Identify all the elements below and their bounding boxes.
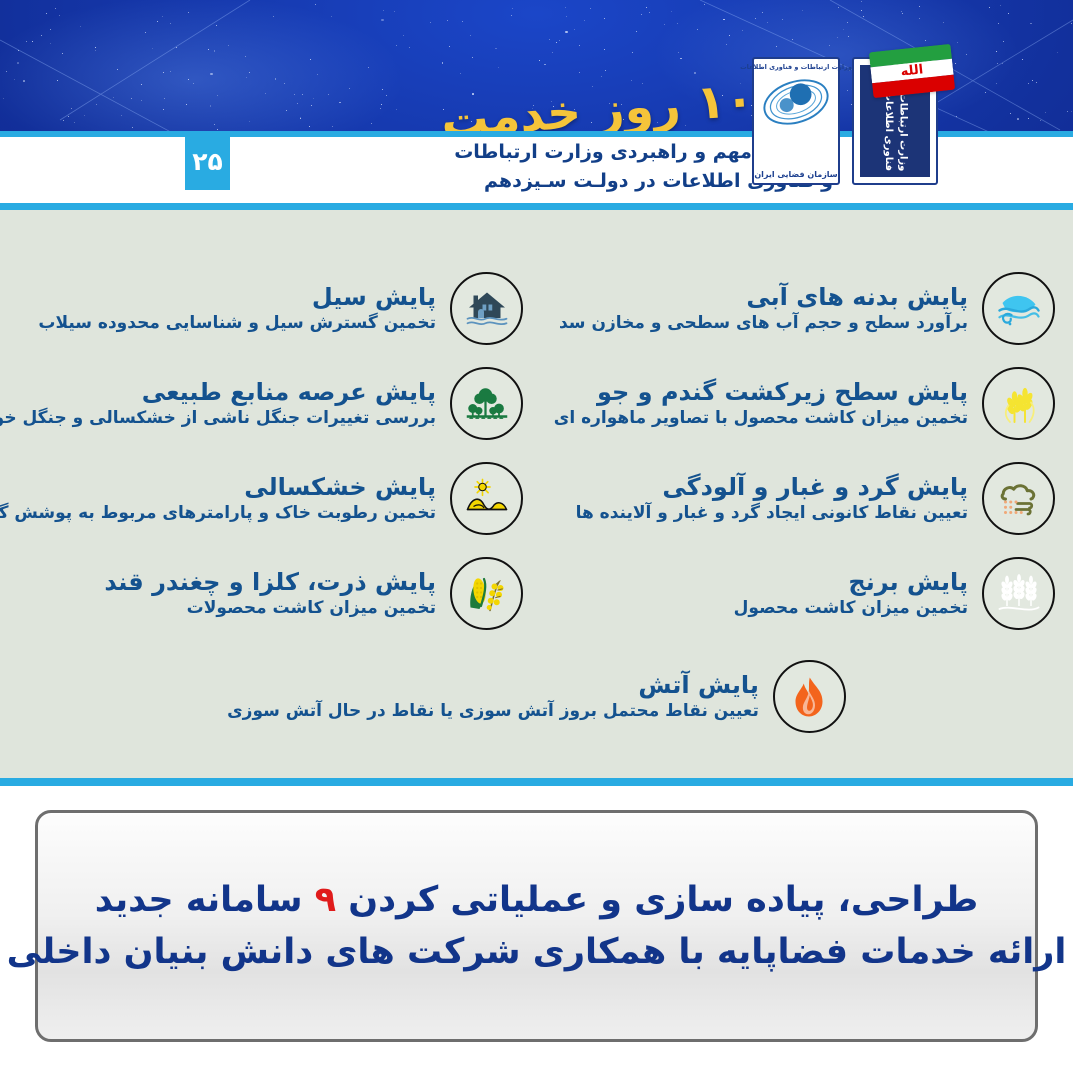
list-item-text: پایش برنج تخمین میزان کاشت محصول [734,567,968,620]
list-item-desc: تخمین گسترش سیل و شناسایی محدوده سیلاب [38,312,436,335]
wheat-icon [982,367,1055,440]
iranian-space-agency-logo: وزارت ارتباطات و فناوری اطلاعات سازمان ف… [752,57,840,185]
list-item-desc: تخمین میزان کاشت محصول با تصاویر ماهواره… [554,407,968,430]
list-item-flood[interactable]: پایش سیل تخمین گسترش سیل و شناسایی محدود… [18,272,523,345]
list-item-title: پایش گرد و غبار و آلودگی [576,472,968,502]
cyan-divider-panel-bottom [0,778,1073,786]
list-item-desc: تخمین میزان کاشت محصولات [104,597,436,620]
list-item-title: پایش سیل [38,282,436,312]
list-item-title: پایش سطح زیرکشت گندم و جو [554,377,968,407]
list-item-text: پایش گرد و غبار و آلودگی تعیین نقاط کانو… [576,472,968,525]
list-item-text: پایش ذرت، کلزا و چغندر قند تخمین میزان ک… [104,567,436,620]
flag-emblem: الله [900,62,924,79]
list-item-desc: تعیین نقاط محتمل بروز آتش سوزی یا نقاط د… [227,700,759,723]
list-item-text: پایش بدنه های آبی برآورد سطح و حجم آب ها… [559,282,968,335]
iran-flag-icon: الله [869,44,955,98]
list-item-text: پایش سیل تخمین گسترش سیل و شناسایی محدود… [38,282,436,335]
flooded-house-icon [450,272,523,345]
list-item-drought[interactable]: پایش خشکسالی تخمین رطوبت خاک و پارامترها… [18,462,523,535]
list-item-text: پایش آتش تعیین نقاط محتمل بروز آتش سوزی … [227,670,759,723]
infographic-page: ۱۰۰۰ روز خدمت ۲۵ اقدامات مهم و راهبردی و… [0,0,1073,1073]
list-item-desc: بررسی تغییرات جنگل ناشی از خشکسالی و جنگ… [0,407,436,430]
header-subtitle: اقدامات مهم و راهبردی وزارت ارتباطات و ف… [233,138,833,195]
rice-stalks-icon [982,557,1055,630]
logo-isa-bottom-text: سازمان فضایی ایران [754,170,837,183]
list-item-desc: برآورد سطح و حجم آب های سطحی و مخازن سد [559,312,968,335]
summary-banner-line1: طراحی، پیاده سازی و عملیاتی کردن ۹ سامان… [95,874,978,927]
summary-banner-line1-before: طراحی، پیاده سازی و عملیاتی کردن [336,880,978,920]
list-item-desc: تعیین نقاط کانونی ایجاد گرد و غبار و آلا… [576,502,968,525]
corn-canola-icon [450,557,523,630]
logo-isa-top-text: وزارت ارتباطات و فناوری اطلاعات [740,63,852,71]
list-item-title: پایش ذرت، کلزا و چغندر قند [104,567,436,597]
cyan-divider-bottom [0,203,1073,210]
list-item-natural-resources[interactable]: پایش عرصه منابع طبیعی بررسی تغییرات جنگل… [18,367,523,440]
list-item-fire[interactable]: پایش آتش تعیین نقاط محتمل بروز آتش سوزی … [257,660,817,733]
water-wave-icon [982,272,1055,345]
services-grid: پایش بدنه های آبی برآورد سطح و حجم آب ها… [0,222,1073,785]
summary-banner: طراحی، پیاده سازی و عملیاتی کردن ۹ سامان… [35,810,1038,1042]
list-item-title: پایش خشکسالی [0,472,436,502]
list-item-water-bodies[interactable]: پایش بدنه های آبی برآورد سطح و حجم آب ها… [550,272,1055,345]
forest-trees-icon [450,367,523,440]
list-item-title: پایش بدنه های آبی [559,282,968,312]
summary-banner-count: ۹ [315,880,336,920]
space-agency-emblem-icon [757,71,835,133]
list-item-title: پایش آتش [227,670,759,700]
flame-icon [773,660,846,733]
list-item-wheat-barley[interactable]: پایش سطح زیرکشت گندم و جو تخمین میزان کا… [550,367,1055,440]
list-item-title: پایش عرصه منابع طبیعی [0,377,436,407]
list-item-dust-pollution[interactable]: پایش گرد و غبار و آلودگی تعیین نقاط کانو… [550,462,1055,535]
summary-banner-line2: ارائه خدمات فضاپایه با همکاری شرکت های د… [7,926,1067,979]
header-subtitle-line1: اقدامات مهم و راهبردی وزارت ارتباطات [233,138,833,167]
list-item-text: پایش خشکسالی تخمین رطوبت خاک و پارامترها… [0,472,436,525]
header-subtitle-line2: و فناوری اطلاعات در دولـت سـیزدهم [233,167,833,196]
list-item-corn-canola-beet[interactable]: پایش ذرت، کلزا و چغندر قند تخمین میزان ک… [18,557,523,630]
list-item-text: پایش سطح زیرکشت گندم و جو تخمین میزان کا… [554,377,968,430]
services-panel: پایش بدنه های آبی برآورد سطح و حجم آب ها… [0,210,1073,785]
dust-cloud-icon [982,462,1055,535]
list-item-text: پایش عرصه منابع طبیعی بررسی تغییرات جنگل… [0,377,436,430]
list-item-desc: تخمین رطوبت خاک و پارامترهای مربوط به پو… [0,502,436,525]
list-item-rice[interactable]: پایش برنج تخمین میزان کاشت محصول [550,557,1055,630]
summary-banner-line1-after: سامانه جدید [95,880,315,920]
list-item-desc: تخمین میزان کاشت محصول [734,597,968,620]
issue-number-badge: ۲۵ [185,133,230,190]
sun-dunes-icon [450,462,523,535]
list-item-title: پایش برنج [734,567,968,597]
